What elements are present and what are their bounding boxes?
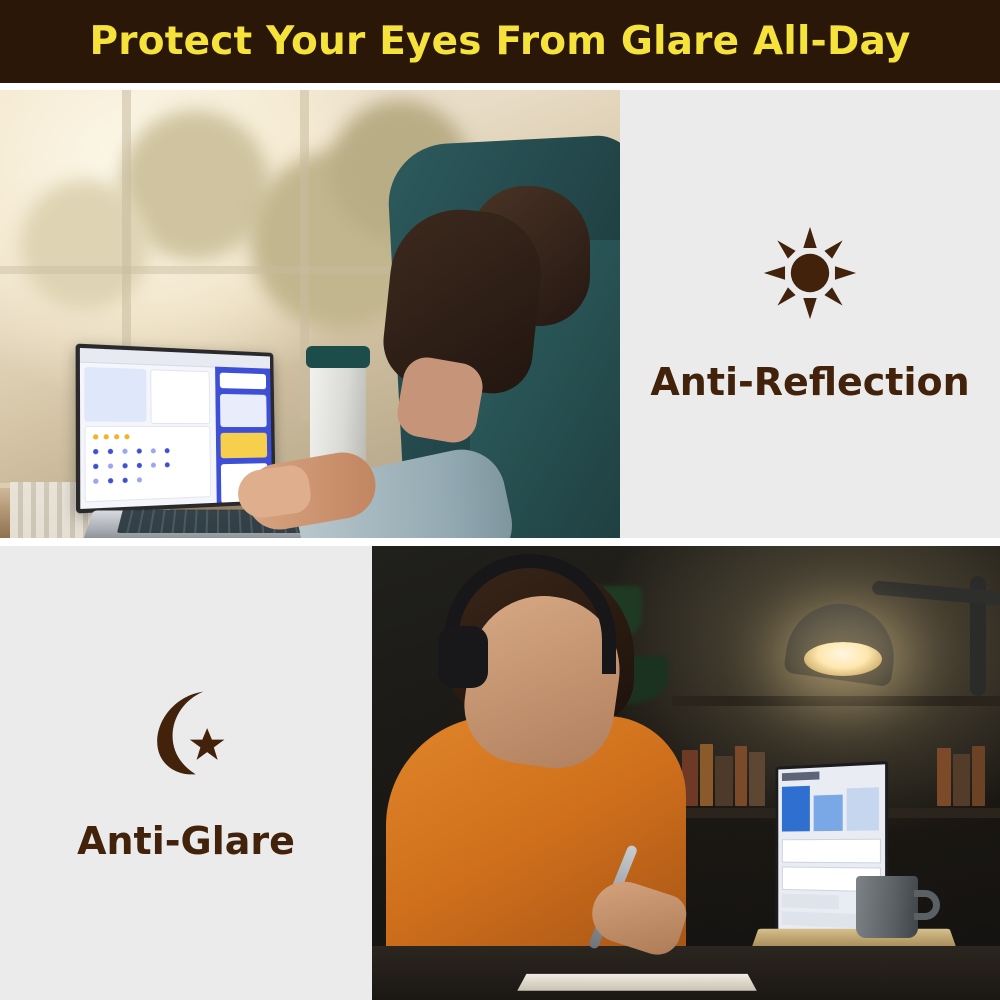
calendar-dot (151, 463, 156, 468)
calendar-dot (165, 448, 170, 453)
calendar-dot (108, 449, 113, 454)
calendar-dot (137, 448, 142, 453)
panel-card (220, 373, 266, 390)
calendar-dot (122, 449, 127, 454)
book (715, 756, 733, 806)
feature-panel-anti-glare: Anti-Glare (0, 546, 372, 1000)
product-feature-poster: Protect Your Eyes From Glare All-Day (0, 0, 1000, 1000)
status-dot (114, 434, 119, 439)
feature-panel-anti-reflection: Anti-Reflection (620, 90, 1000, 538)
calendar-dot (93, 464, 98, 469)
illustration-card (84, 367, 146, 422)
info-row (782, 894, 839, 910)
panel-card (220, 394, 267, 427)
chart-bar (782, 786, 810, 832)
calendar-dot (151, 448, 156, 453)
book (700, 744, 713, 806)
coffee-mug (856, 876, 918, 938)
bottom-section: Anti-Glare (0, 546, 1000, 1000)
person-neck (394, 354, 487, 447)
photo-woman-using-laptop-by-bright-window (0, 90, 620, 538)
page-title: Protect Your Eyes From Glare All-Day (90, 19, 911, 64)
content-card (150, 369, 210, 424)
top-section: Anti-Reflection (0, 90, 1000, 538)
book (735, 746, 747, 806)
status-dot (93, 434, 98, 439)
info-row (782, 911, 859, 928)
sun-icon (762, 225, 858, 326)
status-dot (124, 434, 129, 439)
book (953, 754, 970, 806)
calendar-dot (93, 449, 98, 454)
book (972, 746, 985, 806)
window-mullion (300, 90, 309, 420)
feature-label-anti-reflection: Anti-Reflection (650, 360, 969, 404)
calendar-dot (108, 463, 113, 468)
calendar-dot (165, 462, 170, 467)
book (937, 748, 951, 806)
chart-bar (847, 787, 879, 831)
headphones-earcup (438, 626, 488, 688)
app-toolbar (80, 348, 270, 370)
app-logo (782, 771, 819, 781)
notebook (517, 974, 757, 991)
info-card (782, 839, 881, 864)
book (749, 752, 765, 806)
feature-label-anti-glare: Anti-Glare (77, 819, 295, 863)
header-banner: Protect Your Eyes From Glare All-Day (0, 0, 1000, 83)
calendar-dot (137, 463, 142, 468)
crescent-moon-star-icon (138, 684, 234, 785)
travel-mug-lid (306, 346, 370, 368)
panel-card-highlight (220, 433, 267, 459)
lamp-bulb (804, 642, 882, 676)
bookshelf (672, 696, 1000, 706)
photo-woman-writing-at-night-with-desk-lamp (372, 546, 1000, 1000)
status-dot (104, 434, 109, 439)
chart-bar (814, 795, 843, 832)
